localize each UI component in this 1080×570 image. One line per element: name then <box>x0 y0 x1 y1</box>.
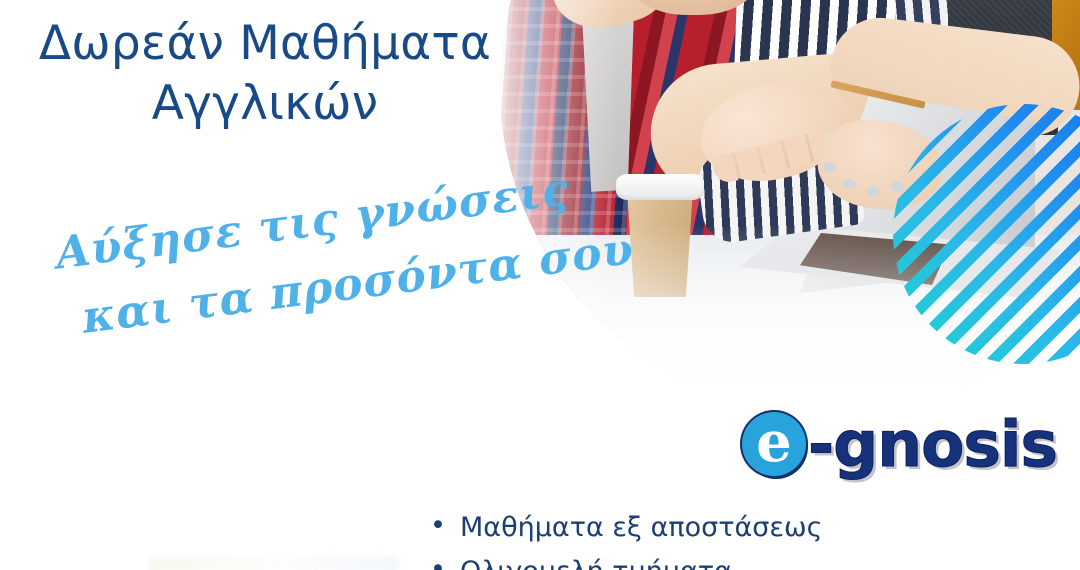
fingernail-graphic <box>842 178 856 190</box>
fingernail-graphic <box>866 185 880 197</box>
headline-line-2: Αγγλικών <box>0 74 530 134</box>
list-item: Μαθήματα εξ αποστάσεως <box>424 506 822 550</box>
faint-artifact <box>148 556 398 570</box>
list-item: Ολιγομελή τμήματα <box>424 550 822 570</box>
headline-line-1: Δωρεάν Μαθήματα <box>39 16 491 71</box>
feature-list: Μαθήματα εξ αποστάσεως Ολιγομελή τμήματα <box>424 506 822 570</box>
logo-e-circle-icon: e <box>742 412 806 476</box>
brand-logo[interactable]: e -gnosis <box>742 408 1057 480</box>
logo-wordmark: -gnosis <box>808 413 1057 476</box>
list-item-label: Μαθήματα εξ αποστάσεως <box>460 512 822 543</box>
coffee-cup-lid-graphic <box>616 174 704 200</box>
stripe-bars-graphic <box>893 104 1080 364</box>
list-item-label: Ολιγομελή τμήματα <box>460 556 732 570</box>
striped-circle-decoration <box>893 104 1080 364</box>
logo-letter: e <box>756 414 792 470</box>
page-title: Δωρεάν Μαθήματα Αγγλικών <box>0 14 530 134</box>
promo-banner: Δωρεάν Μαθήματα Αγγλικών Αύξησε τις γνώσ… <box>0 0 1080 570</box>
tagline: Αύξησε τις γνώσεις και τα προσόντα σου <box>52 163 535 355</box>
fingernail-graphic <box>823 161 837 173</box>
